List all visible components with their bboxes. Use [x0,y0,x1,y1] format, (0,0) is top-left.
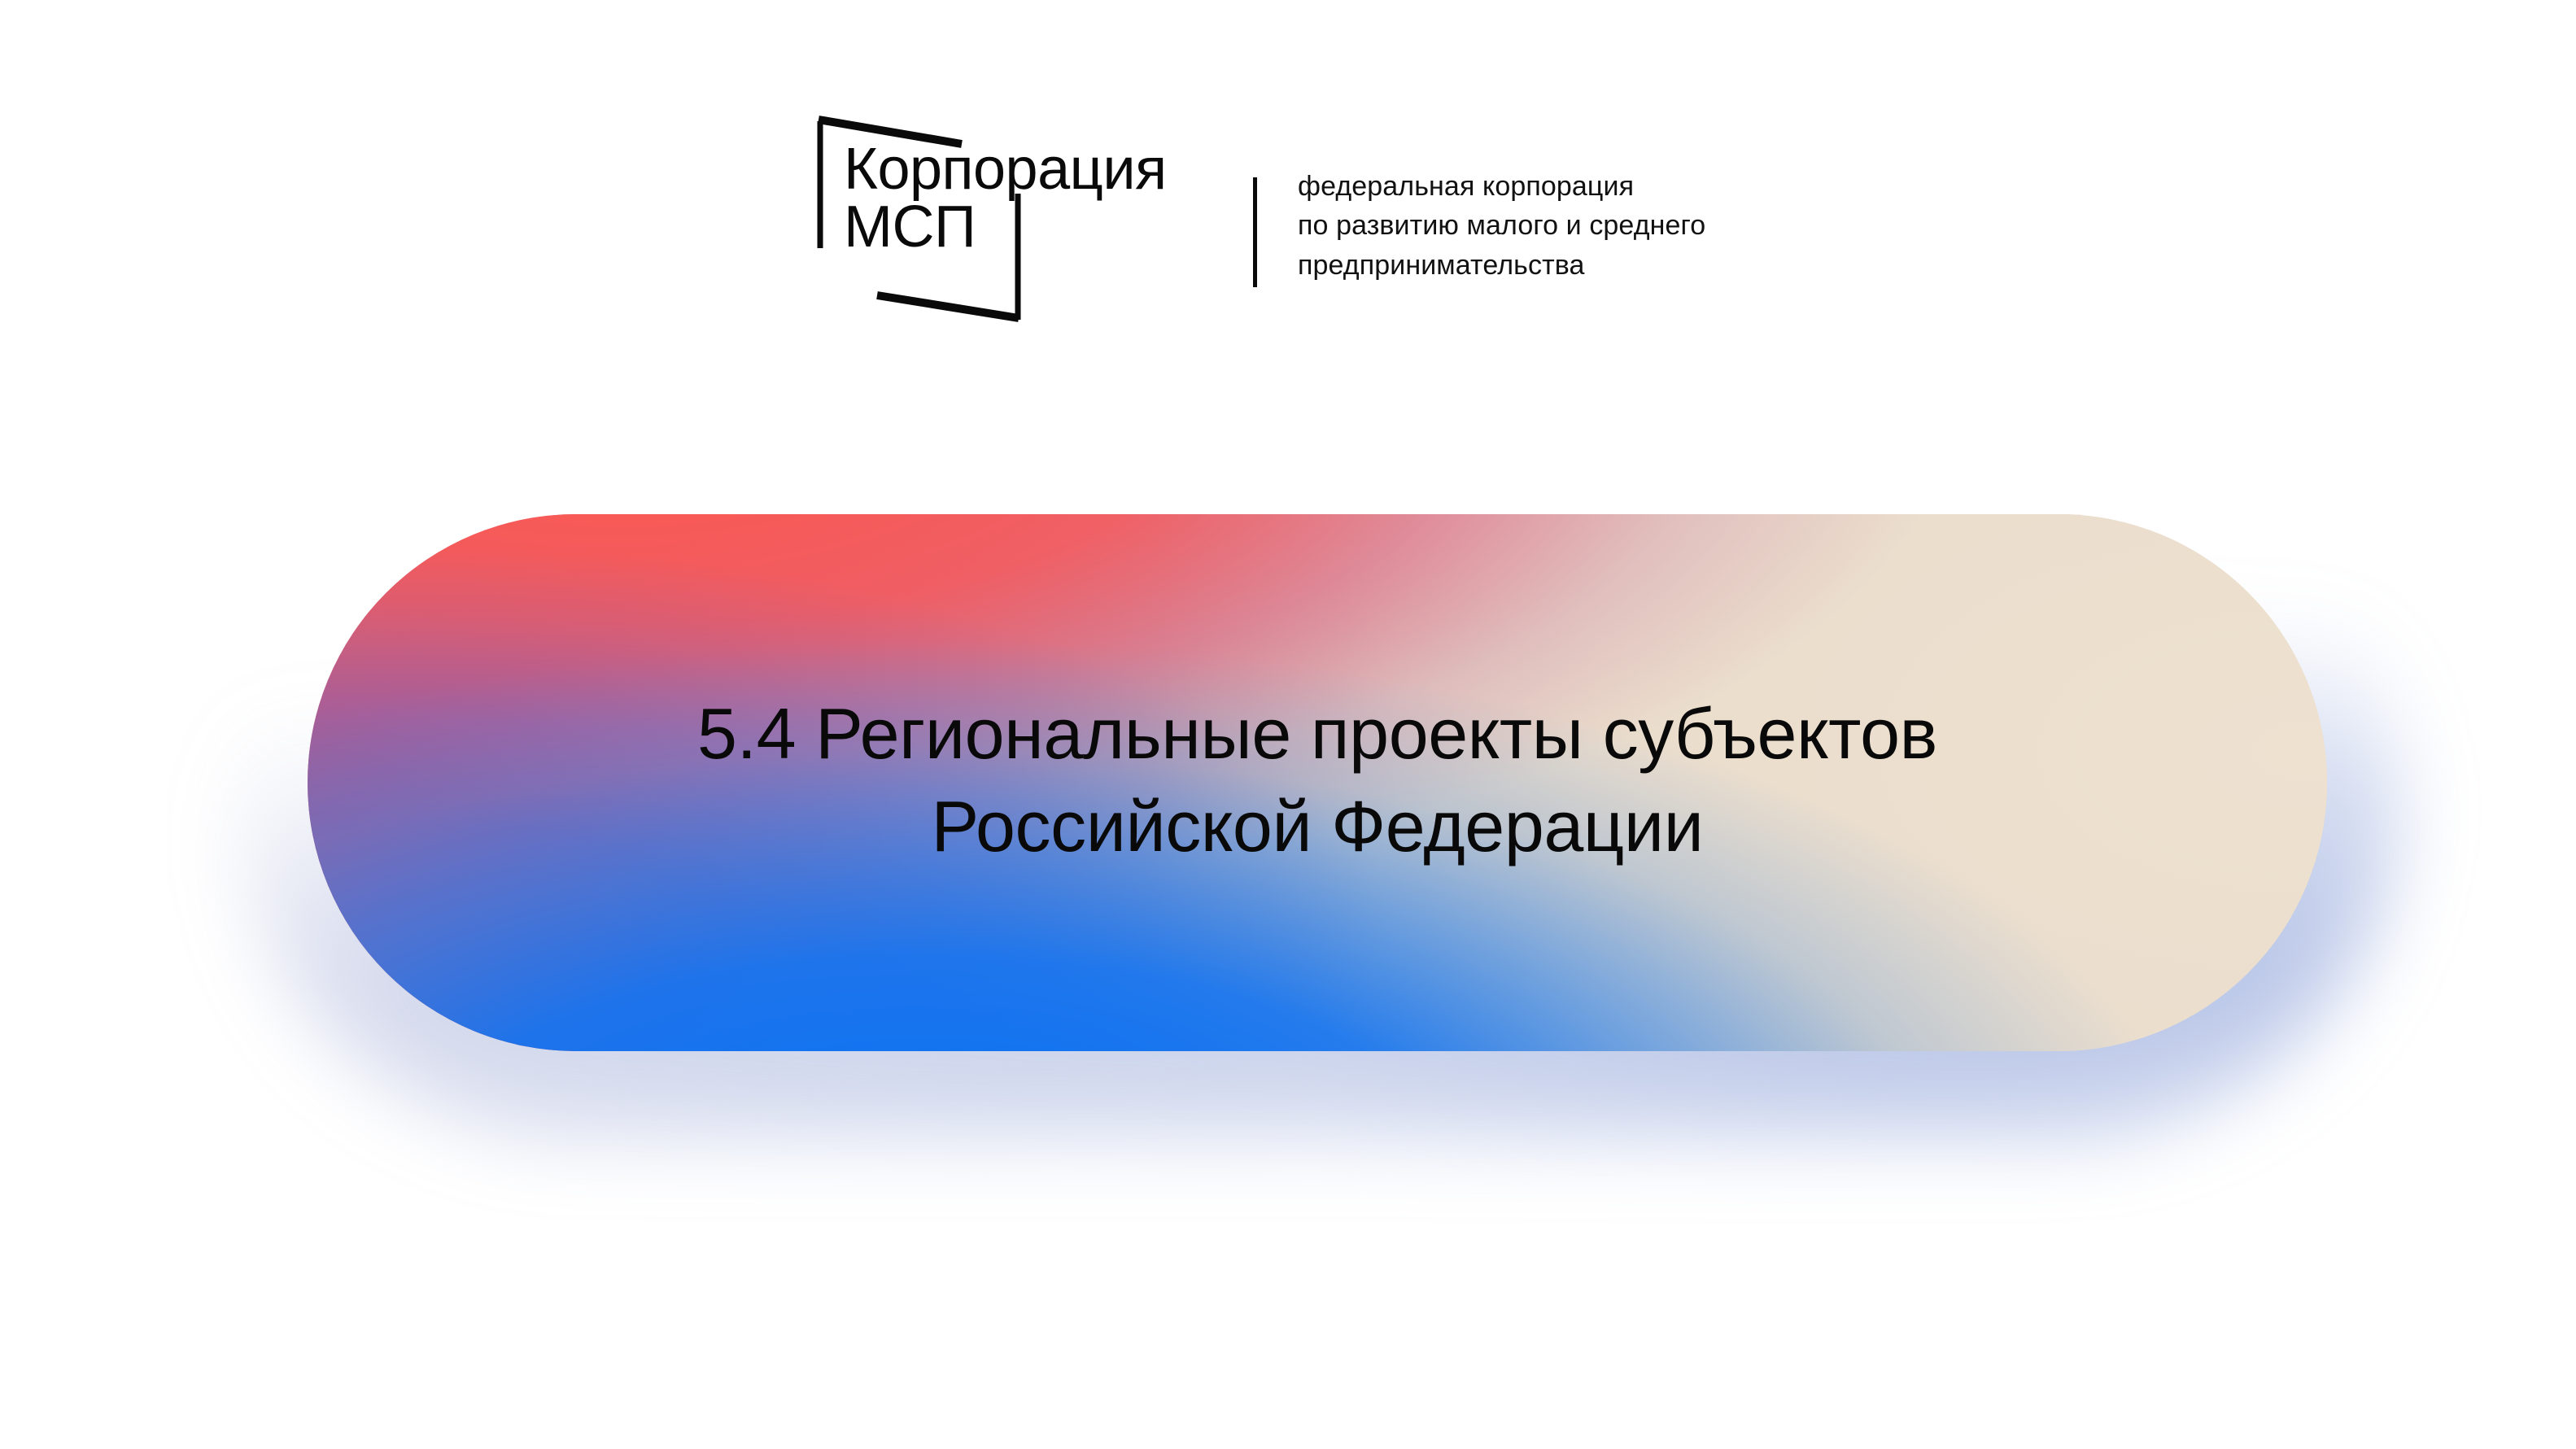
logo-tagline-line-3: предпринимательства [1298,246,1802,285]
logo-tagline-line-1: федеральная корпорация [1298,167,1802,206]
logo-wordmark: Корпорация МСП [844,141,1251,257]
logo-tagline: федеральная корпорация по развитию малог… [1298,167,1802,285]
slide-canvas: Корпорация МСП федеральная корпорация по… [0,0,2576,1449]
title-pill-wrapper: 5.4 Региональные проекты субъектов Росси… [308,514,2327,1051]
slide-title-line-2: Российской Федерации [932,780,1704,873]
brand-logo-block: Корпорация МСП федеральная корпорация по… [806,110,1806,321]
slide-title-line-1: 5.4 Региональные проекты субъектов [697,687,1937,780]
logo-wordmark-line-1: Корпорация [844,141,1251,199]
logo-tagline-line-2: по развитию малого и среднего [1298,206,1802,245]
logo-divider [1253,177,1257,287]
slide-title: 5.4 Региональные проекты субъектов Росси… [308,514,2327,1051]
logo-wordmark-line-2: МСП [844,199,1251,256]
